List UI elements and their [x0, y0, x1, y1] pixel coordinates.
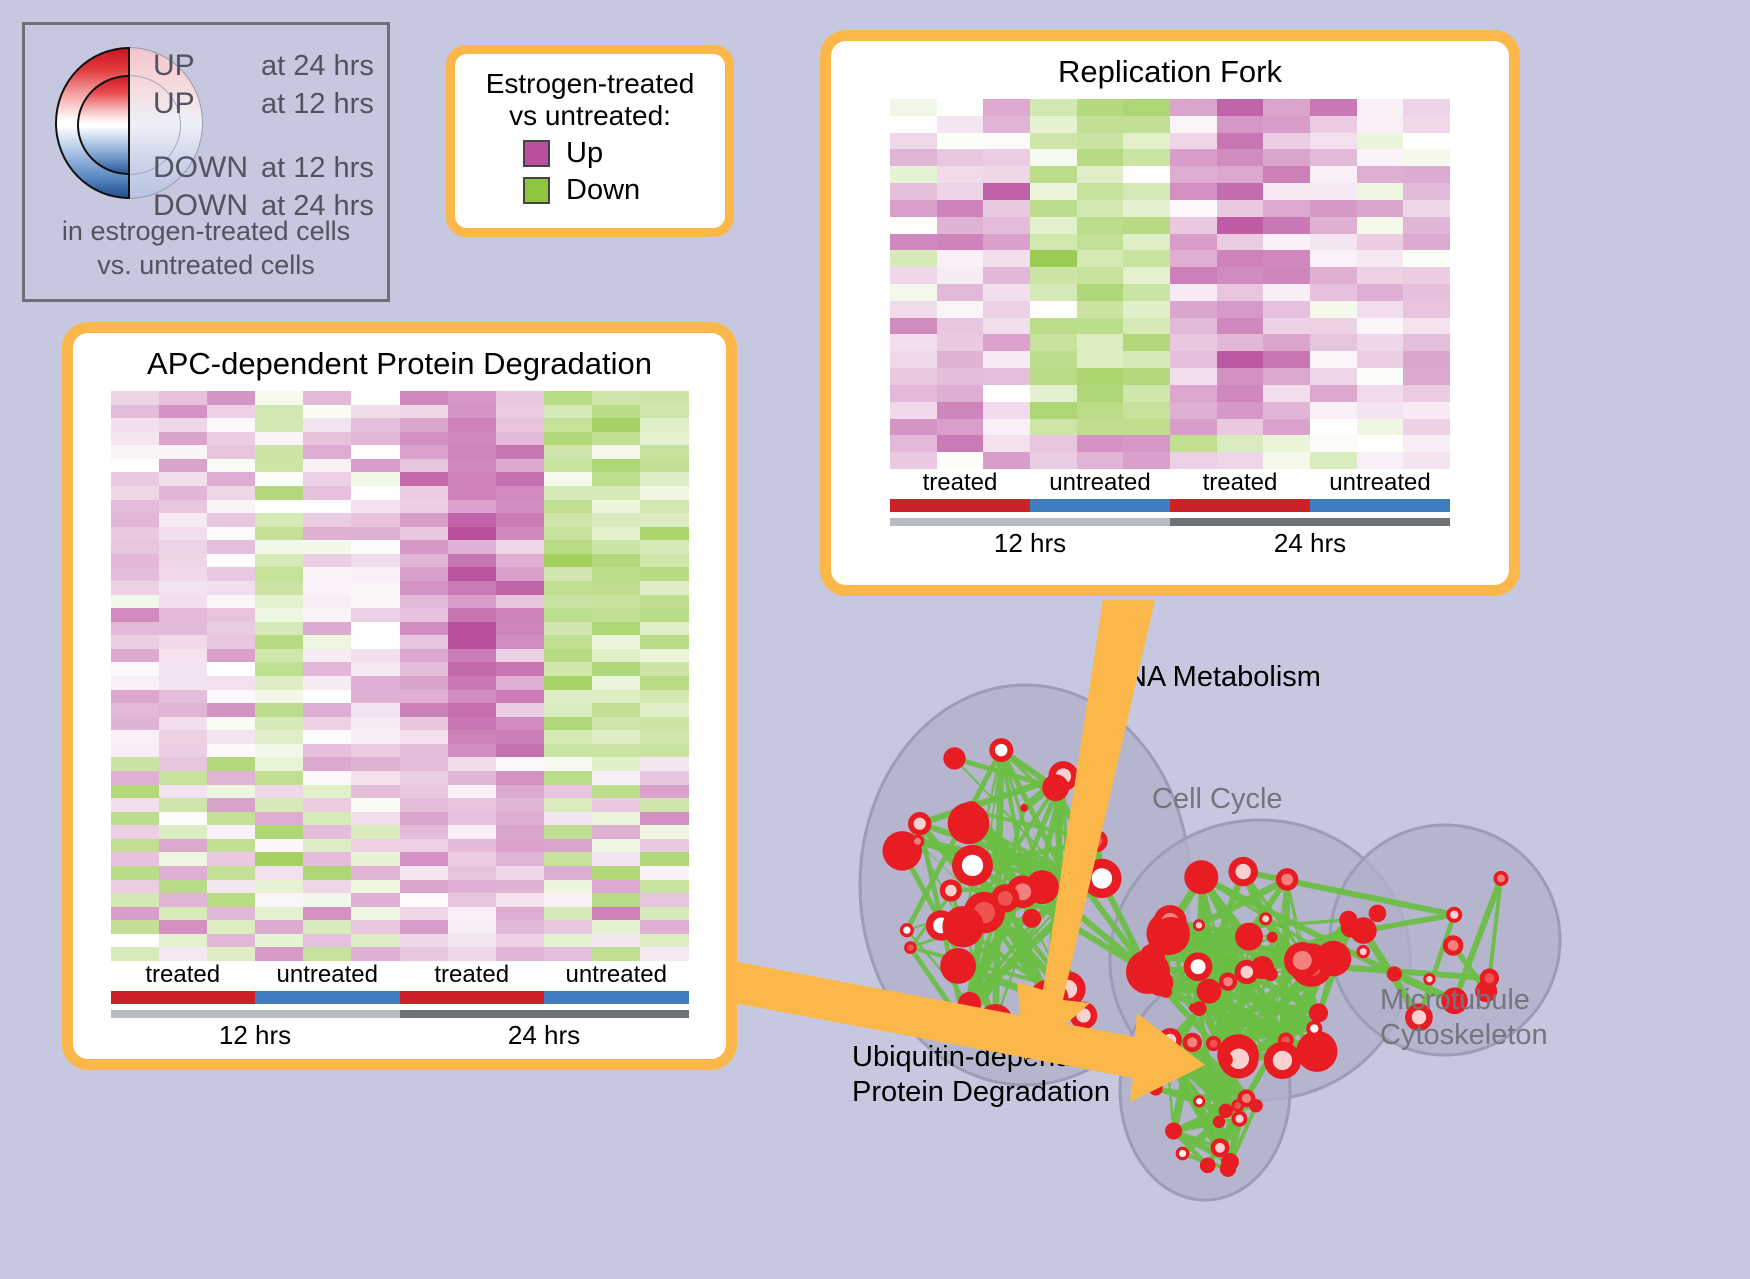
heatmap-cell	[351, 635, 399, 649]
heatmap-cell	[1403, 351, 1450, 368]
heatmap-cell	[159, 649, 207, 663]
heatmap-cell	[640, 567, 688, 581]
heatmap-cell	[255, 622, 303, 636]
heatmap-cell	[640, 866, 688, 880]
heatmap-cell	[1217, 99, 1264, 116]
heatmap-cell	[303, 513, 351, 527]
heatmap-cell	[400, 798, 448, 812]
heatmap-cell	[1263, 351, 1310, 368]
heatmap-cell	[111, 703, 159, 717]
heatmap-cell	[1030, 99, 1077, 116]
heatmap-cell	[544, 554, 592, 568]
heatmap-cell	[1030, 301, 1077, 318]
heatmap-cell	[496, 500, 544, 514]
heatmap-cell	[448, 934, 496, 948]
heatmap-cell	[983, 368, 1030, 385]
heatmap-cell	[937, 402, 984, 419]
heatmap-cell	[207, 662, 255, 676]
network-node-core	[1179, 1150, 1186, 1157]
heatmap-cell	[496, 418, 544, 432]
heatmap-cell	[1357, 116, 1404, 133]
heatmap-cell	[1357, 149, 1404, 166]
heatmap-cell	[400, 839, 448, 853]
heatmap-cell	[1123, 217, 1170, 234]
heatmap-cell	[496, 812, 544, 826]
heatmap-cell	[1077, 267, 1124, 284]
heatmap-cell	[111, 554, 159, 568]
heatmap-cell	[207, 405, 255, 419]
heatmap-cell	[159, 839, 207, 853]
heatmap-cell	[303, 676, 351, 690]
heatmap-cell	[448, 798, 496, 812]
heatmap-cell	[303, 608, 351, 622]
heatmap-cell	[640, 405, 688, 419]
heatmap-cell	[1403, 368, 1450, 385]
heatmap-cell	[303, 486, 351, 500]
network-node-core	[1262, 915, 1269, 922]
heatmap-cell	[544, 703, 592, 717]
heatmap-cell	[351, 418, 399, 432]
heatmap-cell	[1217, 250, 1264, 267]
heatmap-cell	[448, 540, 496, 554]
heatmap-cell	[1077, 435, 1124, 452]
heatmap-cell	[448, 947, 496, 961]
network-diagram: DNA Metabolism Cell Cycle Microtubule Cy…	[790, 620, 1750, 1279]
heatmap-cell	[255, 554, 303, 568]
heatmap-cell	[1263, 368, 1310, 385]
heatmap-cell	[400, 432, 448, 446]
heatmap-cell	[1123, 284, 1170, 301]
heatmap-cell	[111, 825, 159, 839]
heatmap-cell	[544, 513, 592, 527]
network-node-core	[1426, 976, 1432, 982]
heatmap-cell	[1263, 234, 1310, 251]
heatmap-cell	[937, 301, 984, 318]
heatmap-cell	[111, 662, 159, 676]
heatmap-cell	[640, 527, 688, 541]
heatmap-cell	[1030, 284, 1077, 301]
heatmap-cell	[159, 432, 207, 446]
heatmap-cell	[1403, 452, 1450, 469]
panel-title-apc: APC-dependent Protein Degradation	[147, 346, 652, 382]
heatmap-cell	[544, 825, 592, 839]
heatmap-cell	[1030, 217, 1077, 234]
heatmap-cell	[544, 852, 592, 866]
heatmap-cell	[890, 452, 937, 469]
heatmap-cell	[159, 527, 207, 541]
heatmap-cell	[303, 662, 351, 676]
heatmap-cell	[255, 432, 303, 446]
heatmap-cell	[207, 717, 255, 731]
heatmap-cell	[1217, 435, 1264, 452]
heatmap-cell	[400, 730, 448, 744]
heatmap-cell	[351, 595, 399, 609]
heatmap-cell	[400, 866, 448, 880]
heatmap-cell	[640, 635, 688, 649]
heatmap-cell	[111, 690, 159, 704]
heatmap-cell	[544, 405, 592, 419]
heatmap-cell	[448, 622, 496, 636]
heatmap-cell	[207, 757, 255, 771]
network-node-core	[1091, 835, 1103, 847]
time-bars-apc	[111, 1010, 689, 1018]
heatmap-cell	[1123, 318, 1170, 335]
network-node-core	[903, 927, 910, 934]
heatmap-cell	[111, 486, 159, 500]
heatmap-cell	[592, 744, 640, 758]
heatmap-cell	[448, 472, 496, 486]
heatmap-cell	[448, 744, 496, 758]
ubiquitin-line1: Ubiquitin-dependent	[852, 1040, 1112, 1075]
heatmap-cell	[890, 149, 937, 166]
heatmap-cell	[1217, 351, 1264, 368]
heatmap-cell	[351, 622, 399, 636]
heatmap-cell	[1217, 402, 1264, 419]
heatmap-cell	[207, 880, 255, 894]
heatmap-cell	[400, 907, 448, 921]
heatmap-cell	[496, 472, 544, 486]
heatmap-cell	[303, 730, 351, 744]
heatmap-cell	[159, 459, 207, 473]
network-node-core	[1310, 1024, 1318, 1032]
heatmap-cell	[1263, 200, 1310, 217]
heatmap-cell	[983, 301, 1030, 318]
heatmap-cell	[1123, 99, 1170, 116]
network-node	[1184, 860, 1218, 894]
heatmap-cell	[351, 717, 399, 731]
heatmap-cell	[111, 907, 159, 921]
heatmap-cell	[303, 391, 351, 405]
heatmap-cell	[255, 581, 303, 595]
heatmap-cell	[351, 812, 399, 826]
heatmap-cell	[448, 920, 496, 934]
group-bar-treated-12	[890, 499, 1030, 512]
network-node-core	[914, 838, 921, 845]
heatmap-cell	[1310, 334, 1357, 351]
heatmap-cell	[448, 690, 496, 704]
heatmap-cell	[1403, 116, 1450, 133]
heatmap-cell	[544, 690, 592, 704]
heatmap-cell	[544, 662, 592, 676]
heatmap-cell	[937, 99, 984, 116]
heatmap-cell	[1170, 217, 1217, 234]
heatmap-cell	[111, 527, 159, 541]
heatmap-cell	[983, 452, 1030, 469]
heatmap-cell	[937, 183, 984, 200]
heatmap-cell	[255, 825, 303, 839]
heatmap-cell	[1403, 385, 1450, 402]
cluster-label-cell-cycle: Cell Cycle	[1152, 782, 1283, 817]
time-bar-12hrs	[890, 518, 1170, 526]
network-node	[1309, 1003, 1328, 1022]
heatmap-cell	[1170, 435, 1217, 452]
heatmap-cell	[400, 472, 448, 486]
apc-time-label-24hrs: 24 hrs	[400, 1020, 689, 1051]
network-node-core	[995, 744, 1007, 756]
heatmap-cell	[640, 717, 688, 731]
heatmap-cell	[159, 500, 207, 514]
heatmap-cell	[159, 907, 207, 921]
network-node-core	[1236, 864, 1251, 879]
heatmap-cell	[544, 472, 592, 486]
heatmap-cell	[544, 445, 592, 459]
heatmap-cell	[400, 717, 448, 731]
heatmap-cell	[303, 527, 351, 541]
heatmap-cell	[111, 567, 159, 581]
heatmap-cell	[1357, 217, 1404, 234]
heatmap-cell	[937, 351, 984, 368]
heatmap-cell	[1263, 402, 1310, 419]
heatmap-cell	[207, 649, 255, 663]
heatmap-cell	[544, 785, 592, 799]
heatmap-cell	[1310, 452, 1357, 469]
heatmap-cell	[448, 567, 496, 581]
heatmap-cell	[640, 622, 688, 636]
heatmap-cell	[496, 839, 544, 853]
heatmap-cell	[1077, 301, 1124, 318]
heatmap-cell	[303, 554, 351, 568]
wheel-value-down-12: at 12 hrs	[261, 152, 374, 185]
cluster-label-dna-metabolism: DNA Metabolism	[1105, 660, 1321, 695]
heatmap-cell	[496, 907, 544, 921]
heatmap-cell	[255, 757, 303, 771]
heatmap-cell	[544, 540, 592, 554]
heatmap-cell	[207, 920, 255, 934]
heatmap-cell	[111, 635, 159, 649]
apc-group-bar-treated-24	[400, 991, 545, 1004]
heatmap-cell	[890, 334, 937, 351]
heatmap-cell	[159, 825, 207, 839]
heatmap-cell	[1310, 435, 1357, 452]
heatmap-cell	[544, 432, 592, 446]
heatmap-cell	[937, 217, 984, 234]
microtubule-line1: Microtubule	[1380, 983, 1548, 1018]
heatmap-cell	[1077, 99, 1124, 116]
network-node	[1220, 1161, 1236, 1177]
axis-replication-fork: treated untreated treated untreated	[890, 469, 1450, 559]
heatmap-cell	[255, 852, 303, 866]
heatmap-cell	[351, 649, 399, 663]
group-labels-replication-fork: treated untreated treated untreated	[890, 469, 1450, 497]
heatmap-cell	[890, 301, 937, 318]
heatmap-cell	[207, 486, 255, 500]
heatmap-cell	[592, 866, 640, 880]
heatmap-cell	[1357, 234, 1404, 251]
heatmap-cell	[1123, 166, 1170, 183]
heatmap-cell	[592, 527, 640, 541]
heatmap-cell	[1403, 284, 1450, 301]
heatmap-cell	[937, 234, 984, 251]
heatmap-cell	[303, 880, 351, 894]
wheel-row-up-24: UP at 24 hrs	[153, 49, 403, 87]
heatmap-cell	[544, 567, 592, 581]
heatmap-cell	[890, 368, 937, 385]
heatmap-cell	[255, 472, 303, 486]
heatmap-cell	[303, 595, 351, 609]
heatmap-cell	[303, 622, 351, 636]
group-labels-apc: treated untreated treated untreated	[111, 961, 689, 989]
apc-group-label-u24: untreated	[544, 961, 689, 989]
heatmap-cell	[1310, 200, 1357, 217]
heatmap-cell	[159, 717, 207, 731]
panel-apc-degradation: APC-dependent Protein Degradation treate…	[62, 322, 737, 1070]
heatmap-cell	[111, 744, 159, 758]
heatmap-cell	[1123, 334, 1170, 351]
color-wheel-rows: UP at 24 hrs UP at 12 hrs DOWN at 12 hrs…	[153, 49, 403, 227]
heatmap-cell	[159, 445, 207, 459]
heatmap-cell	[159, 866, 207, 880]
network-node-core	[907, 944, 914, 951]
heatmap-cell	[351, 920, 399, 934]
heatmap-cell	[937, 435, 984, 452]
heatmap-cell	[448, 825, 496, 839]
heatmap-cell	[640, 703, 688, 717]
heatmap-cell	[111, 472, 159, 486]
heatmap-cell	[351, 432, 399, 446]
heatmap-cell	[544, 622, 592, 636]
heatmap-cell	[640, 730, 688, 744]
heatmap-cell	[255, 608, 303, 622]
network-node	[1387, 966, 1402, 981]
heatmap-cell	[640, 907, 688, 921]
heatmap-cell	[207, 893, 255, 907]
heatmap-cell	[255, 866, 303, 880]
network-node-core	[1223, 977, 1233, 987]
heatmap-cell	[496, 540, 544, 554]
heatmap-cell	[255, 947, 303, 961]
heatmap-cell	[351, 513, 399, 527]
heatmap-cell	[890, 200, 937, 217]
heatmap-cell	[640, 690, 688, 704]
heatmap-cell	[303, 418, 351, 432]
heatmap-cell	[1030, 267, 1077, 284]
heatmap-cell	[544, 934, 592, 948]
network-node	[1200, 1157, 1216, 1173]
heatmap-cell	[496, 567, 544, 581]
heatmap-cell	[1357, 419, 1404, 436]
heatmap-cell	[255, 920, 303, 934]
network-node-core	[1273, 1051, 1292, 1070]
heatmap-cell	[1217, 234, 1264, 251]
heatmap-cell	[592, 907, 640, 921]
heatmap-cell	[1170, 334, 1217, 351]
heatmap-cell	[937, 267, 984, 284]
heatmap-cell	[592, 893, 640, 907]
heatmap-cell	[448, 662, 496, 676]
heatmap-cell	[1077, 368, 1124, 385]
heatmap-cell	[1170, 183, 1217, 200]
network-node-core	[1187, 1037, 1197, 1047]
heatmap-cell	[111, 405, 159, 419]
heatmap-cell	[1077, 351, 1124, 368]
heatmap-cell	[592, 852, 640, 866]
heatmap-cell	[890, 133, 937, 150]
network-node-core	[1073, 884, 1081, 892]
cluster-label-ubiquitin-degradation: Ubiquitin-dependent Protein Degradation	[852, 1040, 1112, 1110]
heatmap-cell	[207, 567, 255, 581]
heatmap-cell	[496, 391, 544, 405]
time-bar-24hrs	[1170, 518, 1450, 526]
heatmap-cell	[1263, 183, 1310, 200]
heatmap-cell	[207, 771, 255, 785]
heatmap-cell	[111, 880, 159, 894]
heatmap-cell	[255, 934, 303, 948]
heatmap-cell	[1030, 402, 1077, 419]
heatmap-cell	[1030, 435, 1077, 452]
heatmap-cell	[592, 880, 640, 894]
heatmap-cell	[351, 907, 399, 921]
group-label-t24: treated	[1170, 469, 1310, 497]
heatmap-cell	[1310, 301, 1357, 318]
heatmap-cell	[303, 445, 351, 459]
heatmap-cell	[592, 635, 640, 649]
color-wheel-footer: in estrogen-treated cells vs. untreated …	[25, 215, 387, 283]
heatmap-cell	[544, 757, 592, 771]
network-node	[1192, 1001, 1207, 1016]
heatmap-cell	[400, 662, 448, 676]
heatmap-cell	[400, 649, 448, 663]
heatmap-cell	[937, 149, 984, 166]
heatmap-cell	[207, 500, 255, 514]
heatmap-cell	[983, 217, 1030, 234]
heatmap-cell	[303, 947, 351, 961]
heatmap-cell	[1310, 267, 1357, 284]
updown-legend-title: Estrogen-treated vs untreated:	[467, 68, 713, 133]
heatmap-cell	[111, 839, 159, 853]
heatmap-cell	[1217, 419, 1264, 436]
heatmap-cell	[1263, 301, 1310, 318]
network-node-core	[1281, 874, 1293, 886]
heatmap-cell	[351, 567, 399, 581]
heatmap-cell	[1077, 402, 1124, 419]
heatmap-cell	[111, 676, 159, 690]
heatmap-cell	[207, 622, 255, 636]
heatmap-cell	[448, 486, 496, 500]
heatmap-cell	[303, 893, 351, 907]
heatmap-cell	[207, 703, 255, 717]
heatmap-cell	[1123, 116, 1170, 133]
heatmap-cell	[400, 581, 448, 595]
microtubule-line2: Cytoskeleton	[1380, 1018, 1548, 1053]
wheel-key-up-12: UP	[153, 87, 261, 121]
heatmap-cell	[640, 608, 688, 622]
network-node	[1235, 923, 1263, 951]
heatmap-cell	[303, 798, 351, 812]
heatmap-cell	[303, 649, 351, 663]
group-bar-untreated-12	[1030, 499, 1170, 512]
heatmap-cell	[983, 284, 1030, 301]
heatmap-cell	[111, 418, 159, 432]
heatmap-cell	[640, 472, 688, 486]
heatmap-cell	[448, 676, 496, 690]
heatmap-cell	[1403, 435, 1450, 452]
heatmap-cell	[1217, 385, 1264, 402]
network-node	[1219, 1052, 1233, 1066]
heatmap-cell	[351, 825, 399, 839]
heatmap-cell	[207, 785, 255, 799]
heatmap-cell	[983, 385, 1030, 402]
network-node	[1296, 1031, 1337, 1072]
heatmap-cell	[159, 880, 207, 894]
heatmap-cell	[1357, 284, 1404, 301]
heatmap-cell	[592, 405, 640, 419]
heatmap-cell	[351, 608, 399, 622]
network-node-core	[1448, 940, 1459, 951]
heatmap-cell	[496, 581, 544, 595]
heatmap-cell	[1403, 318, 1450, 335]
wheel-key-up-24: UP	[153, 49, 261, 83]
heatmap-cell	[303, 812, 351, 826]
